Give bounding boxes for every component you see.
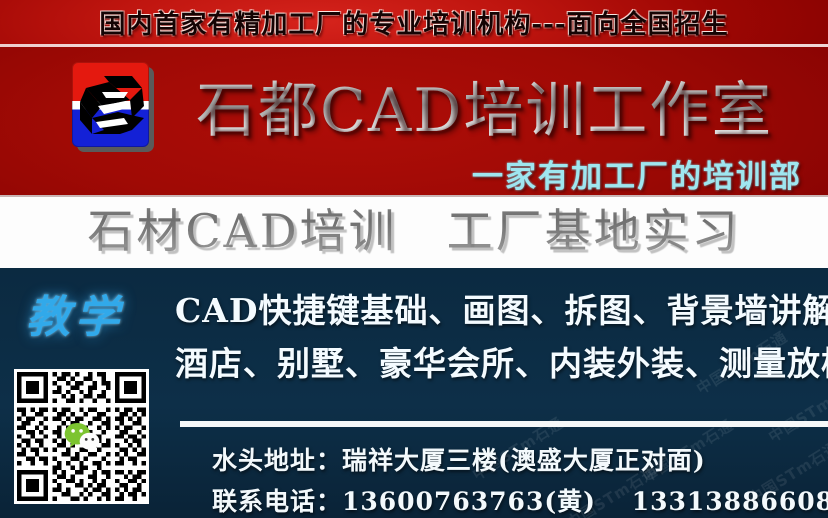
wechat-icon: [63, 422, 101, 452]
headline-band: 石材CAD培训 工厂基地实习: [0, 195, 828, 268]
course-item-1: CAD快捷键基础、画图、拆图、背景墙讲解: [175, 284, 828, 332]
slogan-text: 国内首家有精加工厂的专业培训机构---面向全国招生: [0, 0, 828, 44]
contact-phones: 联系电话：13600763763(黄) 13313886608(蔡): [212, 482, 828, 518]
slogan-banner: 国内首家有精加工厂的专业培训机构---面向全国招生: [0, 0, 828, 47]
headline-text: 石材CAD培训 工厂基地实习: [0, 191, 828, 264]
page-title: 石都CAD培训工作室: [196, 63, 796, 147]
brand-header: 石都CAD培训工作室 一家有加工厂的培训部: [0, 47, 828, 195]
brand-subtitle: 一家有加工厂的培训部: [472, 151, 802, 195]
promo-poster: 国内首家有精加工厂的专业培训机构---面向全国招生: [0, 0, 828, 518]
qr-code[interactable]: [14, 369, 149, 504]
course-section: 教学: [0, 268, 828, 518]
contact-address: 水头地址：瑞祥大厦三楼(澳盛大厦正对面): [212, 441, 706, 477]
section-divider: [180, 421, 828, 427]
logo-s-mark: [72, 62, 149, 147]
section-label-teaching: 教学: [26, 281, 124, 345]
logo-face: [72, 62, 149, 147]
company-logo: [72, 62, 154, 152]
course-item-2: 酒店、别墅、豪华会所、内装外装、测量放样等: [175, 337, 828, 385]
